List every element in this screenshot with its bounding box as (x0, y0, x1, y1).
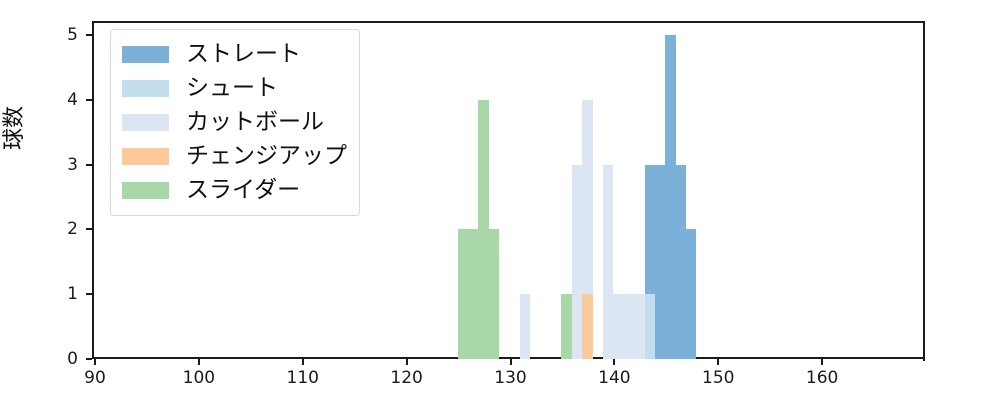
x-axis-tick-label: 160 (806, 368, 838, 388)
legend-item-label: ストレート (186, 41, 301, 67)
bar (561, 294, 571, 359)
bar (634, 294, 644, 359)
legend-swatch-icon (122, 46, 169, 63)
x-axis-tick (94, 359, 96, 365)
bar (572, 165, 582, 359)
x-axis-tick (821, 359, 823, 365)
y-axis-tick-label: 5 (0, 26, 78, 44)
bar (613, 294, 623, 359)
legend-swatch-icon (122, 114, 169, 131)
y-axis-title: 球数 (0, 106, 28, 150)
bar (468, 229, 478, 359)
bar (665, 35, 675, 359)
pitch-count-histogram: 90100110120130140150160 012345 球数 ストレートシ… (0, 0, 1000, 400)
legend-item[interactable]: カットボール (122, 105, 347, 139)
x-axis-tick (198, 359, 200, 365)
legend-swatch-icon (122, 148, 169, 165)
y-axis-tick-label: 3 (0, 156, 78, 174)
x-axis-tick-label: 150 (702, 368, 734, 388)
legend: ストレートシュートカットボールチェンジアップスライダー (110, 29, 360, 216)
y-axis-tick-label: 1 (0, 285, 78, 303)
y-axis-tick (86, 358, 92, 360)
bar (582, 294, 592, 359)
bar (603, 165, 613, 359)
legend-item-label: カットボール (186, 109, 324, 135)
x-axis-tick-label: 100 (183, 368, 215, 388)
y-axis-tick-label: 2 (0, 220, 78, 238)
legend-item[interactable]: シュート (122, 71, 347, 105)
bar (686, 229, 696, 359)
bar (458, 229, 468, 359)
bar (645, 294, 655, 359)
y-axis-tick (86, 164, 92, 166)
legend-item-label: チェンジアップ (186, 143, 347, 169)
x-axis-tick (302, 359, 304, 365)
y-axis-tick (86, 228, 92, 230)
legend-item-label: スライダー (186, 177, 300, 203)
x-axis-tick-label: 90 (84, 368, 106, 388)
y-axis-tick (86, 99, 92, 101)
legend-swatch-icon (122, 182, 169, 199)
x-axis-tick (406, 359, 408, 365)
x-axis-tick (613, 359, 615, 365)
y-axis-tick-label: 0 (0, 350, 78, 368)
bar (655, 165, 665, 359)
x-axis-tick-label: 110 (287, 368, 319, 388)
legend-item[interactable]: チェンジアップ (122, 139, 347, 173)
bar (676, 165, 686, 359)
legend-swatch-icon (122, 80, 169, 97)
bar (478, 100, 488, 359)
y-axis-tick (86, 293, 92, 295)
x-axis-tick-label: 140 (598, 368, 630, 388)
x-axis-tick-label: 120 (390, 368, 422, 388)
legend-item[interactable]: ストレート (122, 37, 347, 71)
y-axis-tick (86, 34, 92, 36)
x-axis-tick-label: 130 (494, 368, 526, 388)
x-axis-tick (510, 359, 512, 365)
bar (520, 294, 530, 359)
bar (489, 229, 499, 359)
x-axis-tick (717, 359, 719, 365)
legend-item-label: シュート (186, 75, 278, 101)
legend-item[interactable]: スライダー (122, 173, 347, 207)
bar (624, 294, 634, 359)
